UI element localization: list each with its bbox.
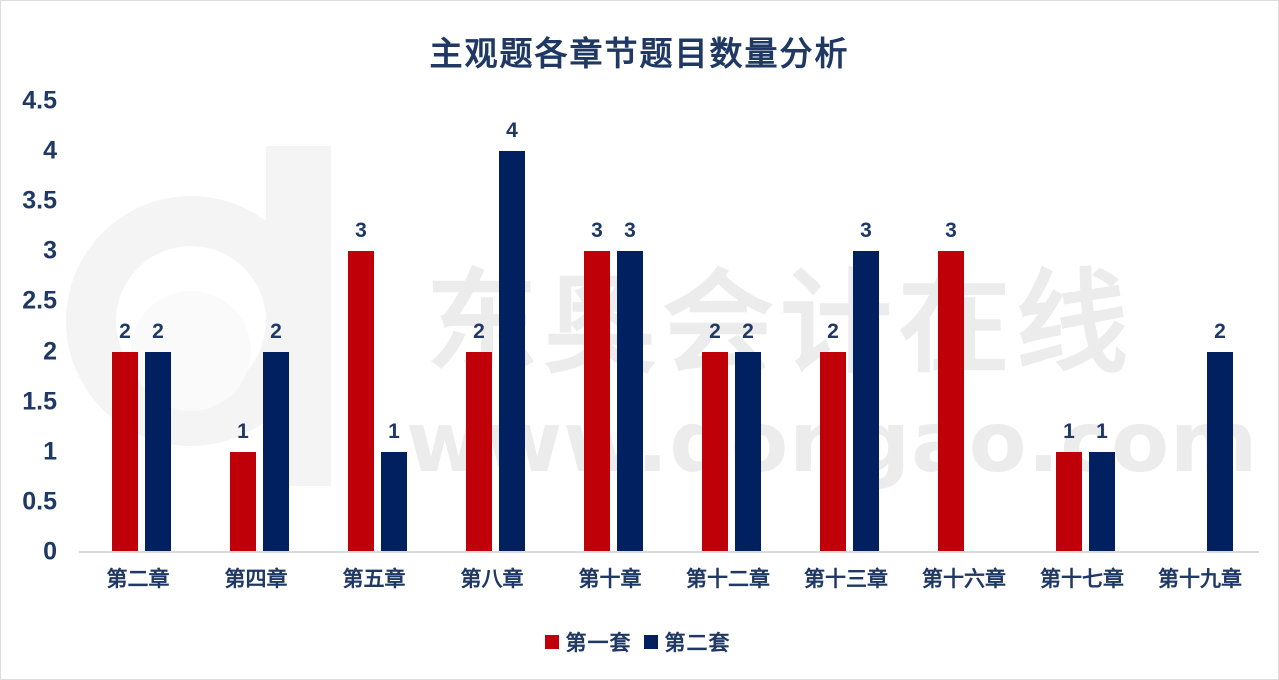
- x-axis-tick-label: 第十三章: [787, 563, 905, 593]
- x-axis-tick-label: 第二章: [79, 563, 197, 593]
- bar-value-label: 2: [1200, 320, 1240, 344]
- chart-container: 东奥会计在线 www.dongao.com 主观题各章节题目数量分析 4.543…: [0, 0, 1279, 680]
- bar-group: 22: [669, 101, 787, 552]
- y-axis-tick-label: 4.5: [22, 87, 57, 116]
- x-axis-tick-label: 第十二章: [669, 563, 787, 593]
- x-axis-tick-label: 第十章: [551, 563, 669, 593]
- y-axis-tick-label: 0.5: [22, 487, 57, 516]
- bar-第一套-第十六章[interactable]: [938, 251, 964, 552]
- x-axis-tick-label: 第十九章: [1141, 563, 1259, 593]
- bar-第一套-第十二章[interactable]: [702, 352, 728, 552]
- bar-group: 11: [1023, 101, 1141, 552]
- bar-第二套-第二章[interactable]: [145, 352, 171, 552]
- bar-第一套-第二章[interactable]: [112, 352, 138, 552]
- bar-第一套-第十七章[interactable]: [1056, 452, 1082, 552]
- x-axis-tick-label: 第十七章: [1023, 563, 1141, 593]
- chart-title: 主观题各章节题目数量分析: [1, 27, 1278, 75]
- y-axis-tick-label: 1: [43, 437, 57, 466]
- y-axis-tick-label: 2.5: [22, 287, 57, 316]
- plot-area: 221231243322233112: [79, 101, 1259, 552]
- bar-第二套-第十章[interactable]: [617, 251, 643, 552]
- bar-group: 33: [551, 101, 669, 552]
- y-axis-tick-label: 4: [43, 137, 57, 166]
- bar-第二套-第四章[interactable]: [263, 352, 289, 552]
- bar-第一套-第八章[interactable]: [466, 352, 492, 552]
- bar-value-label: 1: [374, 420, 414, 444]
- y-axis-tick-label: 3: [43, 237, 57, 266]
- bar-value-label: 3: [846, 219, 886, 243]
- bar-group: 22: [79, 101, 197, 552]
- bar-value-label: 1: [1082, 420, 1122, 444]
- x-axis-tick-label: 第五章: [315, 563, 433, 593]
- x-axis-tick-label: 第八章: [433, 563, 551, 593]
- bar-第二套-第十七章[interactable]: [1089, 452, 1115, 552]
- y-axis-tick-label: 2: [43, 337, 57, 366]
- bar-group: 2: [1141, 101, 1259, 552]
- y-axis-tick-label: 0: [43, 538, 57, 567]
- y-axis-tick-label: 1.5: [22, 387, 57, 416]
- legend-swatch-icon: [644, 635, 658, 649]
- legend-swatch-icon: [545, 635, 559, 649]
- x-axis-tick-label: 第四章: [197, 563, 315, 593]
- bar-group: 31: [315, 101, 433, 552]
- bar-第二套-第五章[interactable]: [381, 452, 407, 552]
- bar-第一套-第十章[interactable]: [584, 251, 610, 552]
- legend-item-第一套[interactable]: 第一套: [545, 627, 632, 657]
- bar-第一套-第四章[interactable]: [230, 452, 256, 552]
- bar-第一套-第五章[interactable]: [348, 251, 374, 552]
- y-axis-tick-label: 3.5: [22, 187, 57, 216]
- legend-label: 第二套: [665, 627, 731, 657]
- bar-value-label: 2: [138, 320, 178, 344]
- bar-value-label: 2: [459, 320, 499, 344]
- bar-value-label: 2: [256, 320, 296, 344]
- bar-value-label: 1: [223, 420, 263, 444]
- x-axis-line: [79, 551, 1259, 553]
- bar-第二套-第十九章[interactable]: [1207, 352, 1233, 552]
- bar-group: 23: [787, 101, 905, 552]
- bar-group: 24: [433, 101, 551, 552]
- bar-第二套-第八章[interactable]: [499, 151, 525, 552]
- bar-value-label: 3: [931, 219, 971, 243]
- bar-group: 12: [197, 101, 315, 552]
- y-axis-labels: 4.543.532.521.510.50: [1, 101, 67, 552]
- bar-group: 3: [905, 101, 1023, 552]
- legend-label: 第一套: [566, 627, 632, 657]
- bar-第一套-第十三章[interactable]: [820, 352, 846, 552]
- bar-value-label: 4: [492, 119, 532, 143]
- bar-value-label: 3: [610, 219, 650, 243]
- x-axis-tick-label: 第十六章: [905, 563, 1023, 593]
- chart-legend: 第一套第二套: [1, 627, 1278, 657]
- legend-item-第二套[interactable]: 第二套: [644, 627, 731, 657]
- bar-value-label: 2: [813, 320, 853, 344]
- bar-第二套-第十三章[interactable]: [853, 251, 879, 552]
- bar-第二套-第十二章[interactable]: [735, 352, 761, 552]
- x-axis-labels: 第二章第四章第五章第八章第十章第十二章第十三章第十六章第十七章第十九章: [79, 563, 1259, 599]
- bar-value-label: 2: [728, 320, 768, 344]
- bar-value-label: 3: [341, 219, 381, 243]
